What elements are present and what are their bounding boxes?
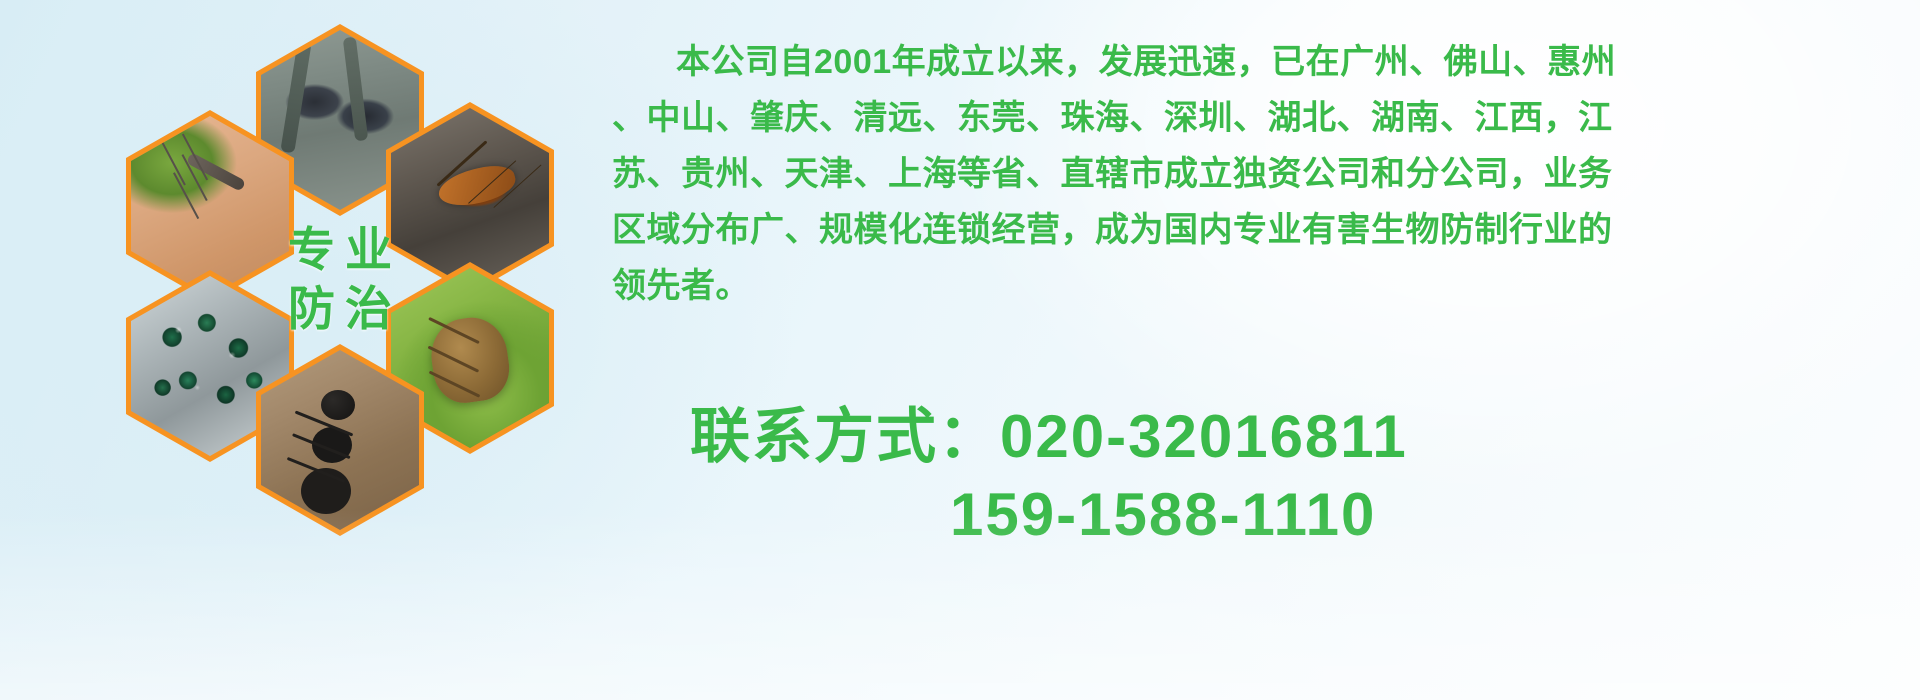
hex-photo-ant (261, 350, 419, 530)
intro-line-2: 、中山、肇庆、清远、东莞、珠海、深圳、湖北、湖南、江西，江 (612, 90, 1874, 146)
intro-line-1-text: 本公司自2001年成立以来，发展迅速，已在广州、佛山、惠州 (676, 43, 1616, 81)
intro-line-1: 本公司自2001年成立以来，发展迅速，已在广州、佛山、惠州 (612, 34, 1874, 90)
contact-block: 联系方式：020-32016811 159-1588-1110 (690, 398, 1870, 554)
honeycomb-center-label: 专业 防治 (256, 184, 424, 374)
intro-line-4: 区域分布广、规模化连锁经营，成为国内专业有害生物防制行业的 (612, 202, 1874, 258)
intro-line-5: 领先者。 (612, 258, 1874, 314)
honeycomb-cluster: 专业 防治 (90, 6, 590, 566)
honeycomb-label-line-2: 防治 (278, 284, 402, 333)
intro-paragraph: 本公司自2001年成立以来，发展迅速，已在广州、佛山、惠州 、中山、肇庆、清远、… (612, 34, 1874, 314)
contact-line-secondary[interactable]: 159-1588-1110 (690, 476, 1870, 554)
contact-line-primary[interactable]: 联系方式：020-32016811 (690, 398, 1870, 476)
promo-banner: 专业 防治 本公司自2001年成立以来，发展迅速，已在广州、佛山、惠州 、中山、… (0, 0, 1920, 700)
intro-line-3: 苏、贵州、天津、上海等省、直辖市成立独资公司和分公司，业务 (612, 146, 1874, 202)
honeycomb-label-line-1: 专业 (278, 225, 402, 274)
ant-photo-icon (261, 350, 419, 530)
